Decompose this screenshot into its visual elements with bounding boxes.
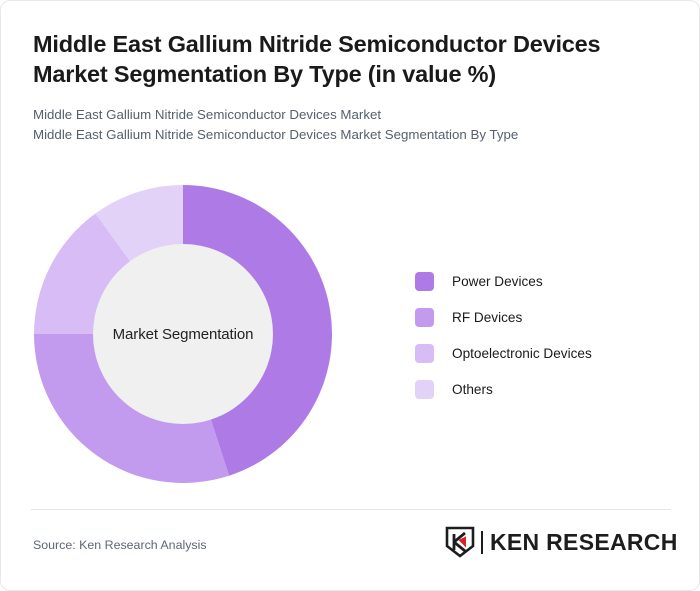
legend-item[interactable]: Others xyxy=(415,371,592,407)
brand-divider xyxy=(481,531,483,554)
legend-label: Power Devices xyxy=(452,274,543,289)
legend-swatch xyxy=(415,344,434,363)
legend-item[interactable]: RF Devices xyxy=(415,299,592,335)
donut-chart: Market Segmentation xyxy=(34,185,332,483)
subtitle-line-1: Middle East Gallium Nitride Semiconducto… xyxy=(33,105,669,125)
chart-area: Market Segmentation Power DevicesRF Devi… xyxy=(1,169,700,501)
legend-item[interactable]: Optoelectronic Devices xyxy=(415,335,592,371)
legend-label: RF Devices xyxy=(452,310,522,325)
donut-center-hole xyxy=(93,244,273,424)
donut-svg xyxy=(34,185,332,483)
footer-divider xyxy=(31,509,671,510)
legend-item[interactable]: Power Devices xyxy=(415,263,592,299)
brand-name: KEN RESEARCH xyxy=(490,529,678,556)
chart-card: Middle East Gallium Nitride Semiconducto… xyxy=(0,0,700,591)
legend-label: Others xyxy=(452,382,493,397)
chart-header: Middle East Gallium Nitride Semiconducto… xyxy=(33,29,669,146)
subtitle-line-2: Middle East Gallium Nitride Semiconducto… xyxy=(33,125,669,145)
page-title: Middle East Gallium Nitride Semiconducto… xyxy=(33,29,669,89)
ken-research-shield-icon xyxy=(445,526,475,558)
brand-logo: KEN RESEARCH xyxy=(445,525,678,559)
chart-legend: Power DevicesRF DevicesOptoelectronic De… xyxy=(415,263,592,407)
legend-swatch xyxy=(415,272,434,291)
legend-swatch xyxy=(415,308,434,327)
legend-label: Optoelectronic Devices xyxy=(452,346,592,361)
subtitle-block: Middle East Gallium Nitride Semiconducto… xyxy=(33,105,669,145)
source-note: Source: Ken Research Analysis xyxy=(33,538,207,552)
legend-swatch xyxy=(415,380,434,399)
